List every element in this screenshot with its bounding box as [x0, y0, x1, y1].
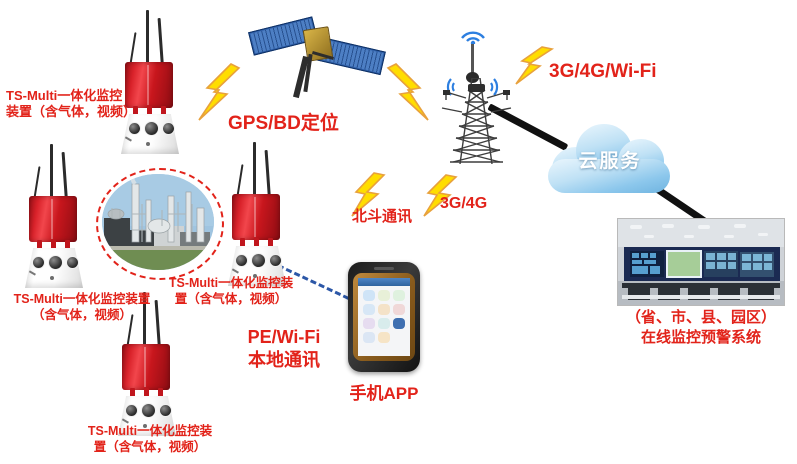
app-icon[interactable] — [393, 318, 405, 329]
diagram-canvas: 云服务 — [0, 0, 797, 464]
control-room-illustration — [618, 219, 784, 305]
app-icon-grid — [363, 290, 405, 343]
lightning-bolt-satellite-tower — [382, 62, 434, 122]
app-icon[interactable] — [378, 304, 390, 315]
communication-tower — [432, 16, 528, 164]
device-sensor-port — [159, 404, 172, 417]
device-sensor-port — [235, 254, 248, 267]
label-link-3g4g: 3G/4G — [440, 194, 487, 214]
cloud-service-node: 云服务 — [542, 119, 678, 197]
plant-highlight-ring — [96, 168, 224, 280]
device-body — [232, 194, 280, 240]
app-icon[interactable] — [393, 290, 405, 301]
monitoring-device-middle — [215, 138, 301, 290]
device-sensor-port — [66, 256, 79, 269]
device-screen — [358, 278, 410, 356]
monitoring-device-left — [12, 140, 98, 292]
label-link-gps: GPS/BD定位 — [228, 112, 339, 136]
label-device-middle: TS-Multi一体化监控装 置（含气体，视频） — [165, 276, 297, 307]
app-icon[interactable] — [363, 304, 375, 315]
app-icon[interactable] — [363, 290, 375, 301]
label-link-3g4g-wifi: 3G/4G/Wi-Fi — [549, 60, 657, 84]
device-sensor-port — [128, 122, 141, 135]
device-sensor-port — [141, 403, 156, 418]
app-icon[interactable] — [363, 332, 375, 343]
app-icon[interactable] — [363, 318, 375, 329]
screen-titlebar — [358, 278, 410, 286]
app-icon — [393, 332, 405, 343]
app-icon[interactable] — [393, 304, 405, 315]
label-control-center: （省、市、县、园区） 在线监控预警系统 — [608, 308, 794, 349]
label-device-top-left: TS-Multi一体化监控 装置（含气体，视频） — [6, 88, 146, 121]
tower-wifi-signal-top — [458, 22, 488, 44]
device-indicator — [50, 276, 54, 280]
device-body — [29, 196, 77, 242]
device-sensor-port — [48, 255, 63, 270]
label-device-left: TS-Multi一体化监控装置 （含气体，视频） — [0, 292, 164, 323]
label-mobile-app: 手机APP — [336, 383, 432, 404]
device-indicator — [146, 142, 150, 146]
device-sensor-port — [251, 253, 266, 268]
device-sensor-port — [32, 256, 45, 269]
label-device-bottom: TS-Multi一体化监控装 置（含气体，视频） — [80, 424, 220, 455]
tower-lattice-structure — [438, 78, 514, 164]
device-sensor-port — [125, 404, 138, 417]
monitoring-device-top-left — [108, 6, 194, 158]
app-icon[interactable] — [378, 318, 390, 329]
app-icon[interactable] — [378, 332, 390, 343]
label-link-beidou: 北斗通讯 — [352, 208, 412, 227]
device-sensor-port — [144, 121, 159, 136]
satellite — [248, 8, 384, 104]
device-sensor-port — [269, 254, 282, 267]
app-icon[interactable] — [378, 290, 390, 301]
device-body — [122, 344, 170, 390]
control-center-photo — [617, 218, 785, 306]
device-speaker — [374, 267, 394, 270]
handheld-device — [348, 262, 420, 372]
device-sensor-port — [162, 122, 175, 135]
label-link-local: PE/Wi-Fi 本地通讯 — [228, 326, 340, 373]
cloud-service-label: 云服务 — [542, 146, 678, 173]
